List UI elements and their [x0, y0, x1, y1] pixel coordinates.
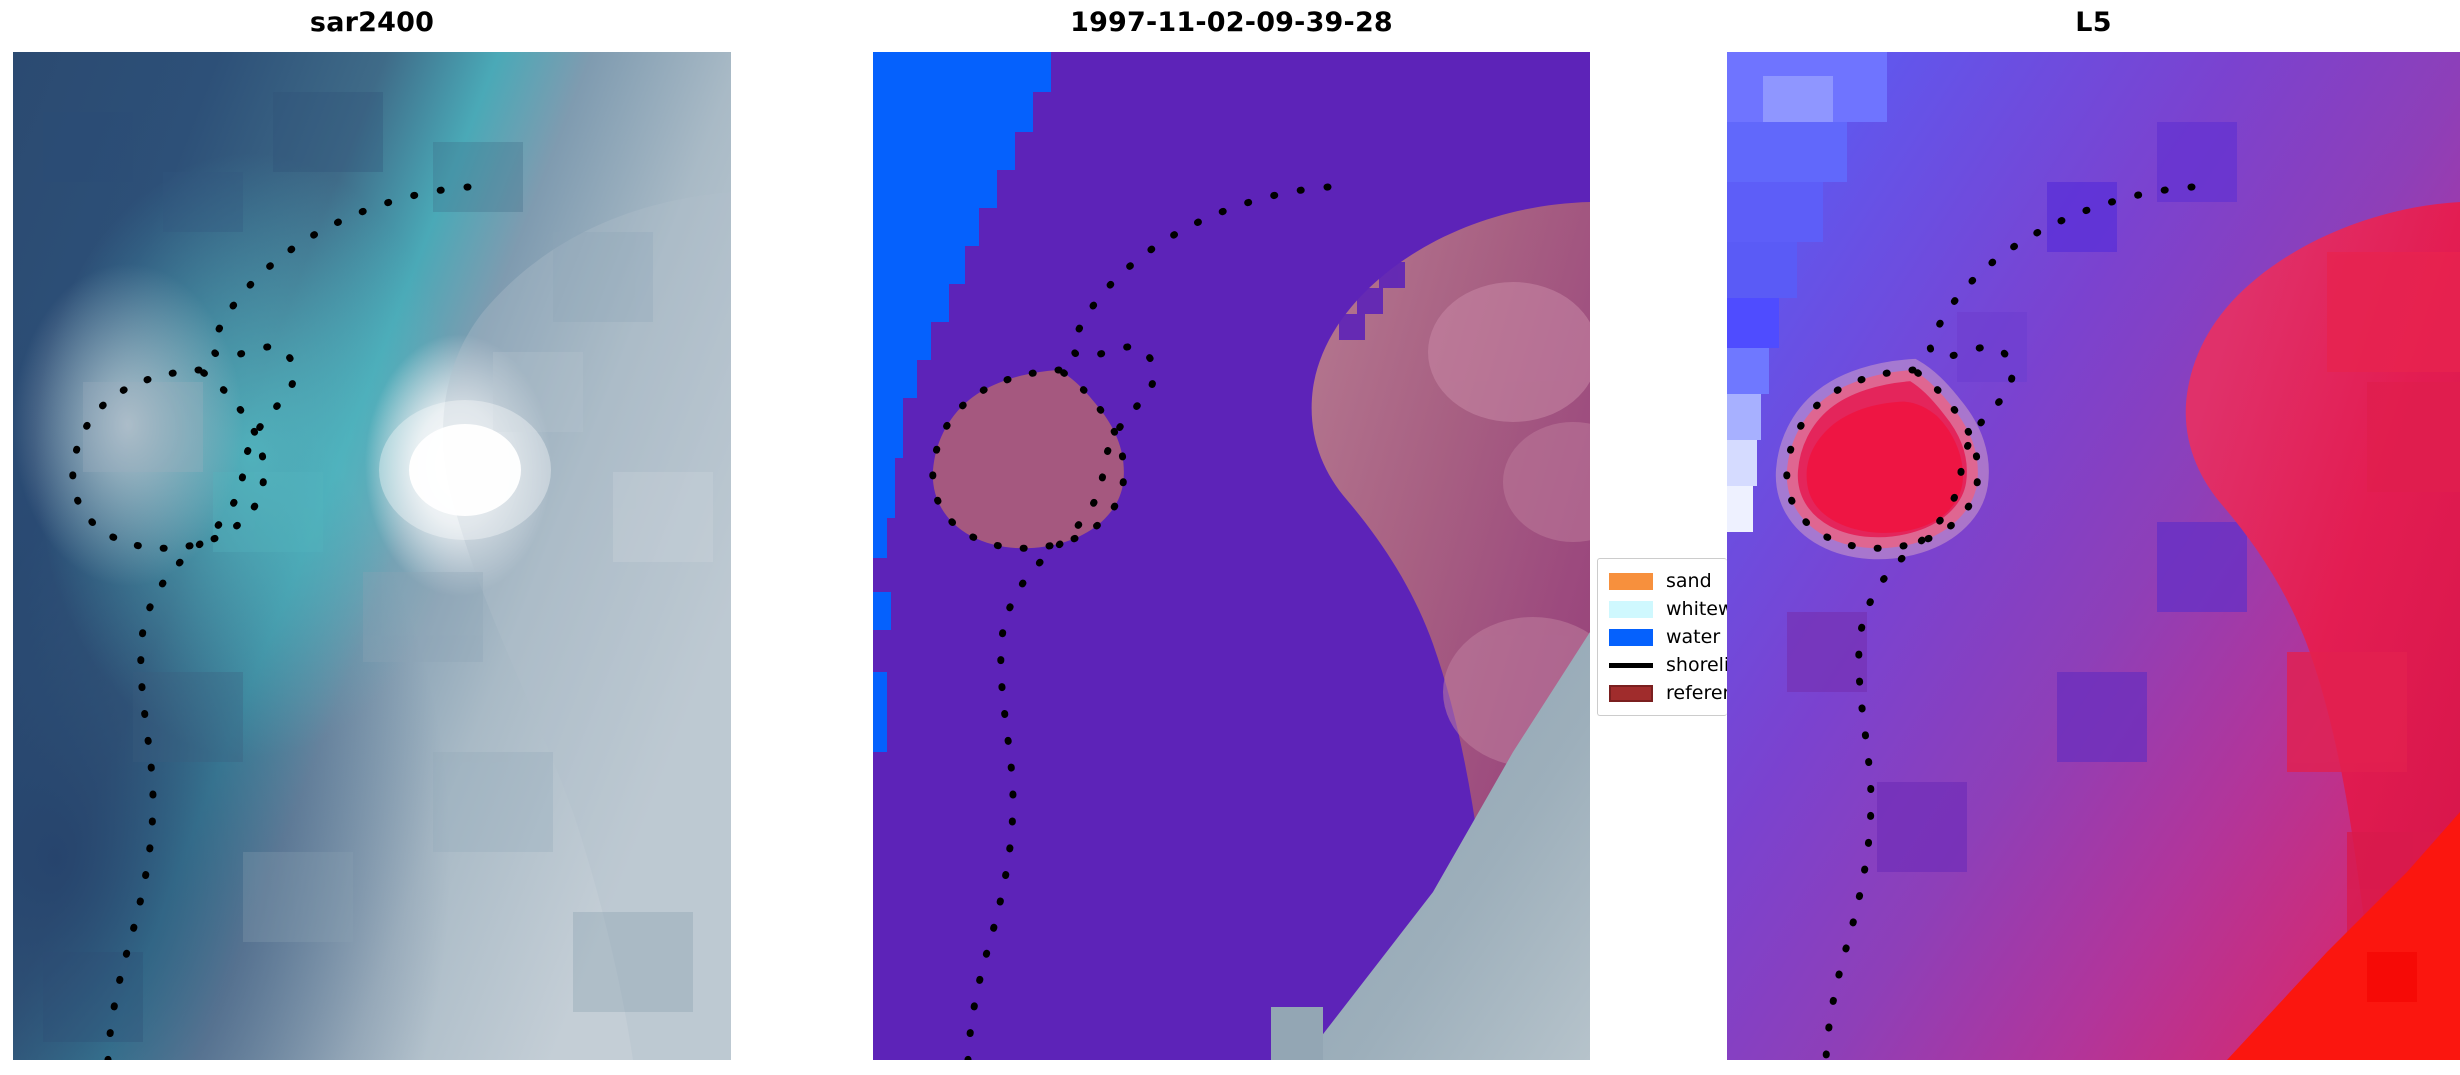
sand-swatch: [1609, 573, 1653, 590]
legend-label-shoreline: shoreli: [1666, 656, 1727, 675]
panel-sar2400[interactable]: [13, 52, 731, 1060]
shoreline-line-swatch: [1609, 663, 1653, 668]
panel-title-classification: 1997-11-02-09-39-28: [873, 6, 1590, 40]
reference-swatch: [1609, 685, 1653, 702]
legend-item-reference: referen: [1598, 679, 1727, 707]
legend-label-water: water: [1666, 628, 1720, 647]
l5-raster-image: [1727, 52, 2460, 1060]
classification-raster-image: [873, 52, 1590, 1060]
sar-raster-image: [13, 52, 731, 1060]
whitewater-swatch: [1609, 601, 1653, 618]
figure-canvas: sar2400: [0, 0, 2460, 1075]
legend-item-sand: sand: [1598, 567, 1727, 595]
legend-label-whitewater: whitew: [1666, 600, 1727, 619]
legend-item-water: water: [1598, 623, 1727, 651]
water-swatch: [1609, 629, 1653, 646]
legend-item-shoreline: shoreli: [1598, 651, 1727, 679]
panel-l5[interactable]: [1727, 52, 2460, 1060]
legend-label-reference: referen: [1666, 684, 1727, 703]
panel-title-sar2400: sar2400: [13, 6, 731, 40]
legend-label-sand: sand: [1666, 572, 1712, 591]
legend-box: sand whitew water shoreli referen: [1597, 558, 1727, 716]
legend-item-whitewater: whitew: [1598, 595, 1727, 623]
panel-classification[interactable]: [873, 52, 1590, 1060]
panel-title-l5: L5: [1727, 6, 2460, 40]
